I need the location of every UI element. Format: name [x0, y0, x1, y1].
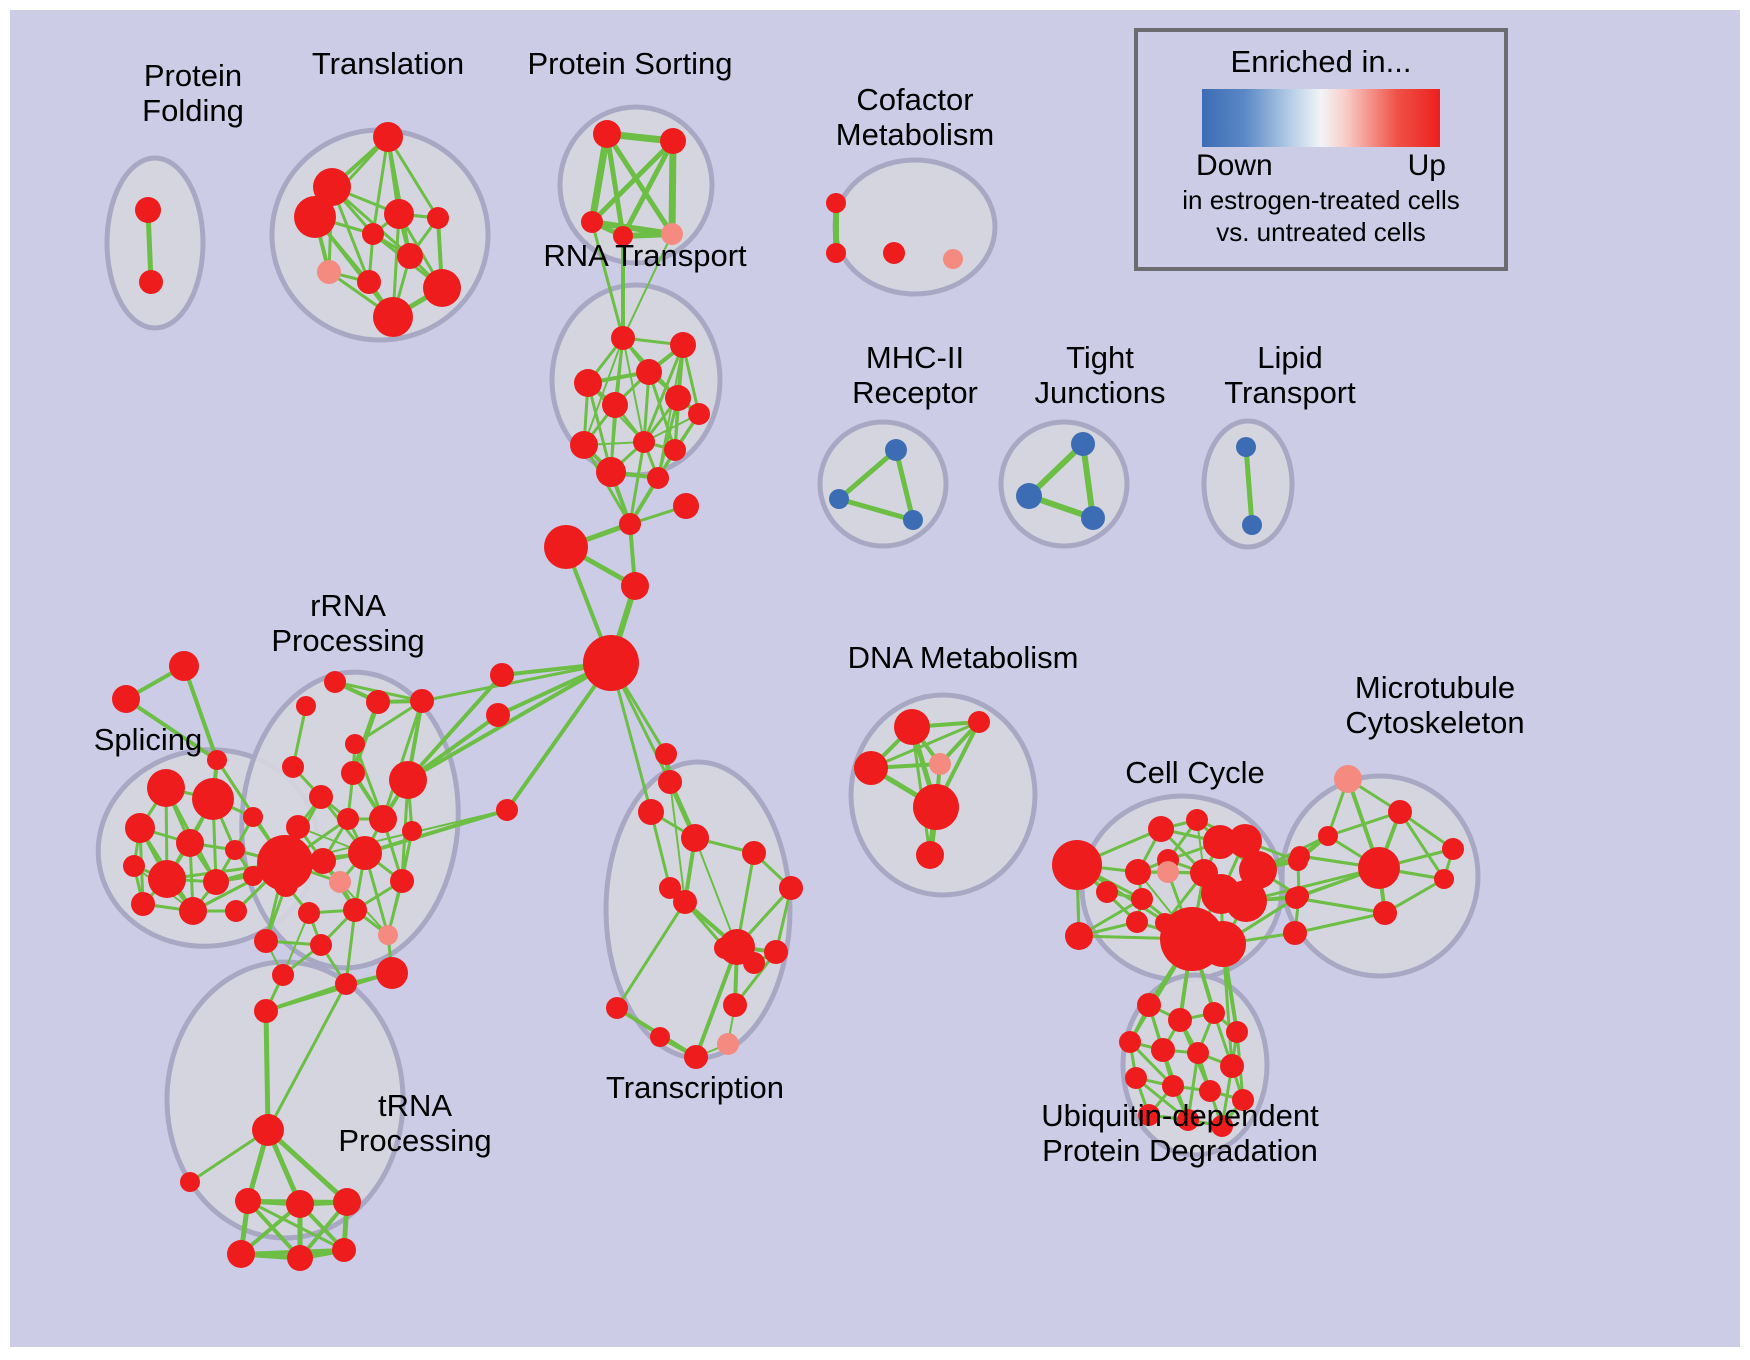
cluster-label-ubiquitin-protein-degradation: Ubiquitin-dependent Protein Degradation: [1010, 1098, 1350, 1168]
node-splicing[interactable]: [179, 897, 207, 925]
node-translation[interactable]: [373, 122, 403, 152]
node-dna-metabolism[interactable]: [968, 711, 990, 733]
node-splicing[interactable]: [169, 651, 199, 681]
node-transcription[interactable]: [655, 743, 677, 765]
cluster-label-cell-cycle: Cell Cycle: [1085, 755, 1305, 790]
cluster-ellipse-cofactor-metabolism[interactable]: [835, 160, 995, 294]
node-rrna-processing[interactable]: [348, 836, 382, 870]
figure-root: Protein FoldingTranslationProtein Sortin…: [0, 0, 1750, 1360]
inter-cluster-edge: [266, 1011, 268, 1130]
node-cell-cycle[interactable]: [1157, 861, 1179, 883]
node-ubiquitin-protein-degradation[interactable]: [1119, 1031, 1141, 1053]
node-trna-processing[interactable]: [333, 1188, 361, 1216]
node-trna-processing[interactable]: [252, 1114, 284, 1146]
node-rrna-processing[interactable]: [254, 929, 278, 953]
cluster-ellipse-transcription[interactable]: [606, 762, 790, 1058]
cluster-label-mhc-ii-receptor: MHC-II Receptor: [810, 340, 1020, 410]
node-splicing[interactable]: [176, 829, 204, 857]
node-bridge[interactable]: [621, 572, 649, 600]
node-rrna-processing[interactable]: [378, 925, 398, 945]
node-trna-processing[interactable]: [286, 1190, 314, 1218]
node-rrna-processing[interactable]: [309, 785, 333, 809]
edge-protein-sorting: [672, 141, 673, 234]
cluster-label-splicing: Splicing: [58, 722, 238, 757]
node-translation[interactable]: [373, 297, 413, 337]
node-translation[interactable]: [294, 196, 336, 238]
node-translation[interactable]: [362, 223, 384, 245]
node-translation[interactable]: [423, 269, 461, 307]
node-protein-sorting[interactable]: [593, 120, 621, 148]
node-splicing[interactable]: [192, 778, 234, 820]
cluster-ellipse-mhc-ii-receptor[interactable]: [820, 422, 946, 546]
node-transcription[interactable]: [717, 1033, 739, 1055]
node-microtubule-cytoskeleton[interactable]: [1318, 826, 1338, 846]
node-lipid-transport[interactable]: [1236, 437, 1256, 457]
node-splicing[interactable]: [112, 685, 140, 713]
node-ubiquitin-protein-degradation[interactable]: [1162, 1075, 1184, 1097]
node-rrna-processing[interactable]: [389, 761, 427, 799]
node-protein-sorting[interactable]: [660, 128, 686, 154]
node-rna-transport[interactable]: [670, 332, 696, 358]
node-splicing[interactable]: [131, 892, 155, 916]
cluster-label-protein-sorting: Protein Sorting: [490, 46, 770, 81]
node-microtubule-cytoskeleton[interactable]: [1285, 887, 1307, 909]
node-rrna-processing[interactable]: [272, 964, 294, 986]
node-rrna-processing[interactable]: [345, 734, 365, 754]
node-bridge[interactable]: [490, 663, 514, 687]
node-cell-cycle[interactable]: [1052, 840, 1102, 890]
node-microtubule-cytoskeleton[interactable]: [1290, 846, 1310, 866]
node-translation[interactable]: [397, 243, 423, 269]
node-trna-processing[interactable]: [227, 1240, 255, 1268]
node-rrna-processing[interactable]: [324, 671, 346, 693]
node-rrna-processing[interactable]: [343, 898, 367, 922]
node-transcription[interactable]: [659, 877, 681, 899]
node-microtubule-cytoskeleton[interactable]: [1388, 800, 1412, 824]
node-trna-processing[interactable]: [235, 1188, 261, 1214]
legend-high-label: Up: [1408, 149, 1446, 183]
node-rrna-processing[interactable]: [376, 957, 408, 989]
node-microtubule-cytoskeleton[interactable]: [1373, 901, 1397, 925]
node-ubiquitin-protein-degradation[interactable]: [1203, 1002, 1225, 1024]
node-rna-transport[interactable]: [602, 392, 628, 418]
node-rrna-processing[interactable]: [310, 848, 336, 874]
node-transcription[interactable]: [714, 937, 736, 959]
node-splicing[interactable]: [123, 855, 145, 877]
node-rrna-processing[interactable]: [341, 761, 365, 785]
node-mhc-ii-receptor[interactable]: [903, 510, 923, 530]
legend-caption-line1: in estrogen-treated cells: [1182, 185, 1459, 215]
node-transcription[interactable]: [723, 993, 747, 1017]
legend-title: Enriched in...: [1231, 44, 1412, 80]
node-rna-transport[interactable]: [633, 431, 655, 453]
node-translation[interactable]: [317, 260, 341, 284]
cluster-label-dna-metabolism: DNA Metabolism: [818, 640, 1108, 675]
node-microtubule-cytoskeleton[interactable]: [1434, 869, 1454, 889]
node-bridge[interactable]: [486, 703, 510, 727]
inter-cluster-edge: [422, 663, 611, 701]
node-rrna-processing[interactable]: [286, 815, 310, 839]
cluster-label-lipid-transport: Lipid Transport: [1185, 340, 1395, 410]
cluster-label-rrna-processing: rRNA Processing: [248, 588, 448, 658]
legend-color-bar: [1202, 89, 1440, 147]
node-splicing[interactable]: [148, 860, 186, 898]
cluster-ellipse-layer: [85, 107, 1478, 1238]
node-transcription[interactable]: [779, 876, 803, 900]
node-tight-junctions[interactable]: [1071, 432, 1095, 456]
node-transcription[interactable]: [742, 841, 766, 865]
node-rrna-processing[interactable]: [410, 689, 434, 713]
cluster-ellipse-protein-folding[interactable]: [107, 158, 203, 328]
node-rrna-processing[interactable]: [254, 999, 278, 1023]
node-cell-cycle[interactable]: [1131, 888, 1153, 910]
cluster-label-rna-transport: RNA Transport: [510, 238, 780, 273]
node-mhc-ii-receptor[interactable]: [885, 439, 907, 461]
node-rrna-processing[interactable]: [337, 808, 359, 830]
node-rrna-processing[interactable]: [369, 805, 397, 833]
node-dna-metabolism[interactable]: [854, 751, 888, 785]
node-ubiquitin-protein-degradation[interactable]: [1226, 1021, 1248, 1043]
node-ubiquitin-protein-degradation[interactable]: [1125, 1067, 1147, 1089]
node-transcription[interactable]: [606, 997, 628, 1019]
node-protein-folding[interactable]: [135, 197, 161, 223]
cluster-label-cofactor-metabolism: Cofactor Metabolism: [800, 82, 1030, 152]
cluster-label-transcription: Transcription: [570, 1070, 820, 1105]
node-cofactor-metabolism[interactable]: [943, 249, 963, 269]
node-splicing[interactable]: [243, 807, 263, 827]
node-rna-transport[interactable]: [596, 457, 626, 487]
node-ubiquitin-protein-degradation[interactable]: [1151, 1038, 1175, 1062]
node-rrna-processing[interactable]: [335, 973, 357, 995]
node-translation[interactable]: [384, 199, 414, 229]
legend-box: Enriched in... Down Up in estrogen-treat…: [1134, 28, 1508, 271]
node-rrna-processing[interactable]: [296, 696, 316, 716]
node-transcription[interactable]: [764, 940, 788, 964]
node-splicing[interactable]: [147, 769, 185, 807]
node-tight-junctions[interactable]: [1016, 483, 1042, 509]
node-dna-metabolism[interactable]: [894, 709, 930, 745]
network-canvas: Protein FoldingTranslationProtein Sortin…: [10, 10, 1740, 1347]
node-ubiquitin-protein-degradation[interactable]: [1220, 1054, 1244, 1078]
node-transcription[interactable]: [684, 1045, 708, 1069]
node-rrna-processing[interactable]: [402, 821, 422, 841]
node-bridge[interactable]: [673, 493, 699, 519]
node-cell-cycle[interactable]: [1225, 880, 1267, 922]
node-splicing[interactable]: [225, 840, 245, 860]
node-rna-transport[interactable]: [611, 326, 635, 350]
node-transcription[interactable]: [658, 770, 682, 794]
node-trna-processing[interactable]: [180, 1172, 200, 1192]
node-trna-processing[interactable]: [332, 1238, 356, 1262]
node-microtubule-cytoskeleton[interactable]: [1358, 847, 1400, 889]
node-cofactor-metabolism[interactable]: [826, 243, 846, 263]
node-rna-transport[interactable]: [688, 403, 710, 425]
node-cell-cycle[interactable]: [1125, 859, 1151, 885]
node-rrna-processing[interactable]: [274, 873, 298, 897]
legend-low-label: Down: [1196, 149, 1273, 183]
node-lipid-transport[interactable]: [1242, 515, 1262, 535]
node-transcription[interactable]: [638, 799, 664, 825]
node-rna-transport[interactable]: [664, 439, 686, 461]
node-protein-folding[interactable]: [139, 270, 163, 294]
node-bridge[interactable]: [544, 525, 588, 569]
node-cell-cycle[interactable]: [1096, 881, 1118, 903]
node-dna-metabolism[interactable]: [929, 753, 951, 775]
node-cell-cycle[interactable]: [1200, 921, 1246, 967]
node-rna-transport[interactable]: [636, 359, 662, 385]
cluster-ellipse-tight-junctions[interactable]: [1001, 422, 1127, 546]
node-transcription[interactable]: [681, 824, 709, 852]
node-rrna-processing[interactable]: [282, 756, 304, 778]
node-tight-junctions[interactable]: [1081, 506, 1105, 530]
node-cell-cycle[interactable]: [1065, 922, 1093, 950]
node-cofactor-metabolism[interactable]: [826, 193, 846, 213]
node-bridge[interactable]: [583, 635, 639, 691]
node-translation[interactable]: [357, 270, 381, 294]
cluster-label-tight-junctions: Tight Junctions: [995, 340, 1205, 410]
node-trna-processing[interactable]: [287, 1245, 313, 1271]
node-dna-metabolism[interactable]: [913, 784, 959, 830]
node-transcription[interactable]: [743, 952, 765, 974]
node-rna-transport[interactable]: [570, 431, 598, 459]
node-rna-transport[interactable]: [574, 369, 602, 397]
node-rrna-processing[interactable]: [390, 869, 414, 893]
node-transcription[interactable]: [650, 1027, 670, 1047]
node-microtubule-cytoskeleton[interactable]: [1442, 838, 1464, 860]
node-rna-transport[interactable]: [665, 385, 691, 411]
node-rna-transport[interactable]: [647, 467, 669, 489]
node-bridge[interactable]: [496, 799, 518, 821]
node-cell-cycle[interactable]: [1126, 911, 1148, 933]
node-rrna-processing[interactable]: [366, 690, 390, 714]
cluster-label-translation: Translation: [268, 46, 508, 81]
node-protein-sorting[interactable]: [581, 211, 603, 233]
legend-caption-line2: vs. untreated cells: [1216, 217, 1426, 247]
node-rrna-processing[interactable]: [310, 934, 332, 956]
cluster-label-microtubule-cytoskeleton: Microtubule Cytoskeleton: [1310, 670, 1560, 740]
node-rrna-processing[interactable]: [298, 902, 320, 924]
node-dna-metabolism[interactable]: [916, 841, 944, 869]
node-cell-cycle[interactable]: [1283, 921, 1307, 945]
node-microtubule-cytoskeleton[interactable]: [1334, 765, 1362, 793]
cluster-label-protein-folding: Protein Folding: [88, 58, 298, 128]
cluster-label-trna-processing: tRNA Processing: [315, 1088, 515, 1158]
node-cofactor-metabolism[interactable]: [883, 242, 905, 264]
node-splicing[interactable]: [225, 900, 247, 922]
node-mhc-ii-receptor[interactable]: [829, 489, 849, 509]
node-cell-cycle[interactable]: [1186, 809, 1208, 831]
node-rrna-processing[interactable]: [329, 871, 351, 893]
node-translation[interactable]: [427, 207, 449, 229]
node-ubiquitin-protein-degradation[interactable]: [1168, 1008, 1192, 1032]
node-ubiquitin-protein-degradation[interactable]: [1137, 993, 1161, 1017]
node-splicing[interactable]: [125, 813, 155, 843]
node-bridge[interactable]: [619, 513, 641, 535]
node-ubiquitin-protein-degradation[interactable]: [1187, 1042, 1209, 1064]
node-cell-cycle[interactable]: [1148, 816, 1174, 842]
node-splicing[interactable]: [203, 869, 229, 895]
